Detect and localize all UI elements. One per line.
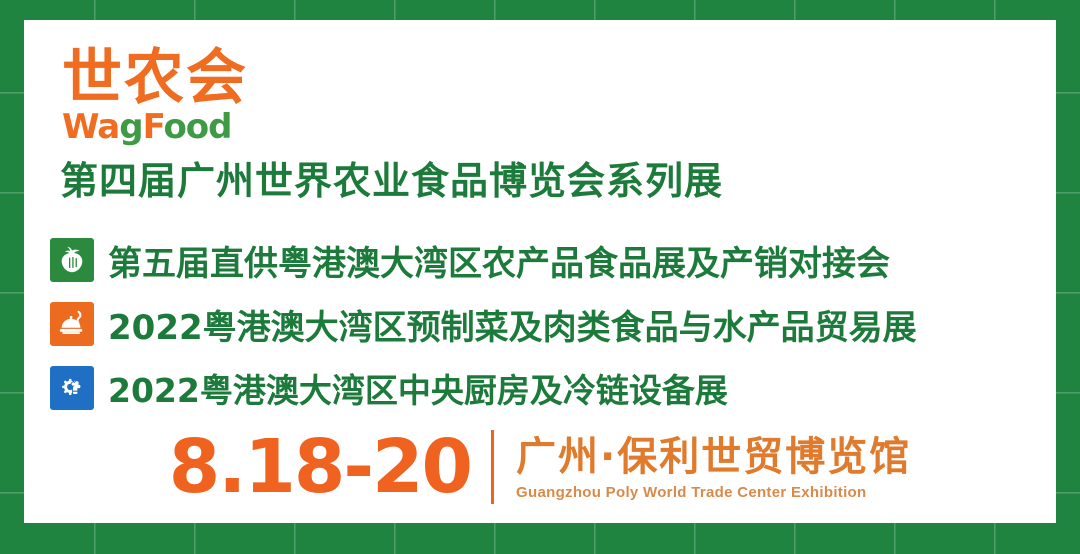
list-item: 第五届直供粤港澳大湾区农产品食品展及产销对接会 [50, 228, 1040, 292]
logo-english-text: WagFood [62, 110, 292, 146]
list-item: 2022粤港澳大湾区预制菜及肉类食品与水产品贸易展 [50, 292, 1040, 356]
logo-chinese-text: 世农会 [62, 48, 292, 108]
page-title: 第四届广州世界农业食品博览会系列展 [60, 150, 723, 205]
white-content-card: 世农会 WagFood 第四届广州世界农业食品博览会系列展 第五届直供粤港澳大湾… [24, 20, 1056, 523]
venue-block: 广州·保利世贸博览馆 Guangzhou Poly World Trade Ce… [516, 434, 911, 501]
event-footer: 8.18-20 广州·保利世贸博览馆 Guangzhou Poly World … [24, 430, 1056, 504]
logo-en-part-ood: ood [163, 107, 231, 147]
event-list: 第五届直供粤港澳大湾区农产品食品展及产销对接会 2022粤港澳大湾区预制菜及肉类… [50, 228, 1040, 420]
event-label: 第五届直供粤港澳大湾区农产品食品展及产销对接会 [108, 236, 890, 285]
logo-en-part-wa: Wa [62, 107, 119, 147]
vertical-divider [491, 430, 494, 504]
poster-banner: 世农会 WagFood 第四届广州世界农业食品博览会系列展 第五届直供粤港澳大湾… [0, 0, 1080, 554]
cloche-dish-icon [50, 302, 94, 346]
logo-en-part-f: F [143, 107, 164, 147]
event-label: 2022粤港澳大湾区预制菜及肉类食品与水产品贸易展 [108, 300, 917, 349]
venue-name-english: Guangzhou Poly World Trade Center Exhibi… [516, 484, 911, 501]
logo-en-part-g: g [119, 107, 142, 147]
event-date: 8.18-20 [169, 430, 471, 504]
event-label: 2022粤港澳大湾区中央厨房及冷链设备展 [108, 364, 728, 412]
brand-logo: 世农会 WagFood [62, 48, 292, 146]
list-item: 2022粤港澳大湾区中央厨房及冷链设备展 [50, 356, 1040, 420]
strawberry-icon [50, 238, 94, 282]
gear-chef-hat-icon [50, 366, 94, 410]
venue-name-chinese: 广州·保利世贸博览馆 [516, 434, 911, 480]
